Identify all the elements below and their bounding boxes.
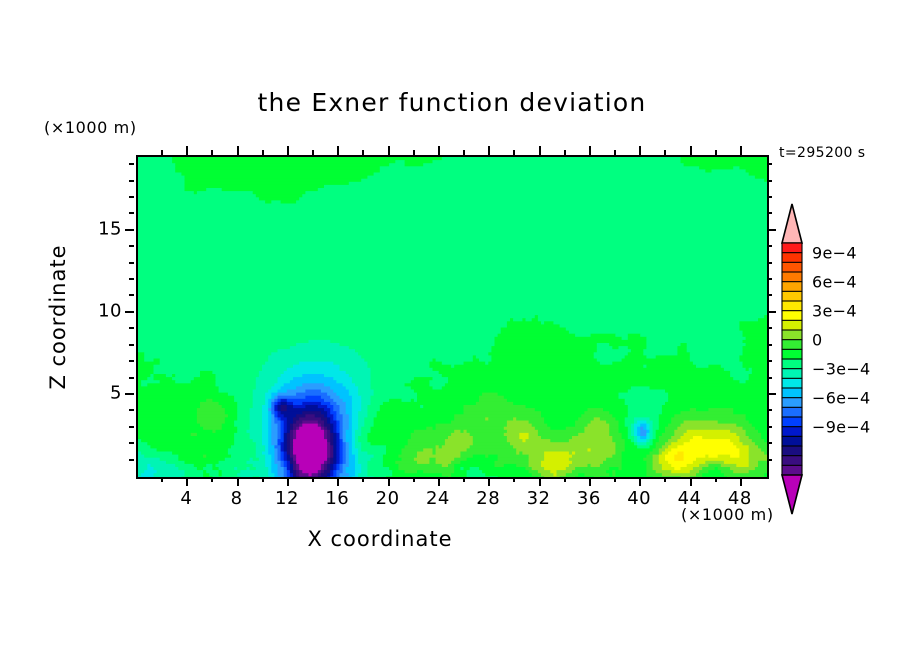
x-tick-label: 48 xyxy=(728,488,752,509)
x-tick xyxy=(337,477,339,486)
colorbar-tick-label: 0 xyxy=(812,330,822,349)
colorbar-band xyxy=(782,253,802,263)
y-tick xyxy=(129,459,134,461)
x-tick-top xyxy=(513,150,515,155)
y-tick-label: 5 xyxy=(76,382,122,403)
x-tick-top xyxy=(639,146,641,155)
y-tick xyxy=(129,212,134,214)
colorbar-band xyxy=(782,465,802,475)
x-tick xyxy=(388,477,390,486)
y-tick-right xyxy=(767,294,772,296)
y-tick-right xyxy=(767,377,772,379)
y-tick xyxy=(129,377,134,379)
colorbar-band xyxy=(782,388,802,398)
colorbar-band xyxy=(782,340,802,350)
x-tick-label: 24 xyxy=(426,488,450,509)
colorbar-band xyxy=(782,243,802,253)
x-tick-label: 44 xyxy=(678,488,702,509)
x-tick xyxy=(262,477,264,482)
chart-title: the Exner function deviation xyxy=(0,88,904,117)
y-tick xyxy=(129,426,134,428)
x-tick xyxy=(287,477,289,486)
y-tick-right xyxy=(767,344,772,346)
colorbar-over-arrow xyxy=(782,204,802,243)
x-tick xyxy=(589,477,591,486)
x-tick-label: 16 xyxy=(325,488,349,509)
x-tick-top xyxy=(715,150,717,155)
x-tick-top xyxy=(312,150,314,155)
colorbar-band xyxy=(782,301,802,311)
x-tick xyxy=(639,477,641,486)
x-tick-top xyxy=(161,150,163,155)
y-tick-right xyxy=(767,409,772,411)
x-tick-top xyxy=(690,146,692,155)
x-tick xyxy=(161,477,163,482)
x-tick xyxy=(186,477,188,486)
x-tick xyxy=(463,477,465,482)
x-tick xyxy=(690,477,692,486)
y-tick-right xyxy=(767,327,772,329)
x-tick-top xyxy=(388,146,390,155)
colorbar-tick-label: 9e−4 xyxy=(812,243,857,262)
y-tick xyxy=(129,180,134,182)
x-tick-top xyxy=(488,146,490,155)
y-tick xyxy=(129,262,134,264)
y-tick xyxy=(129,294,134,296)
x-tick xyxy=(362,477,364,482)
x-tick xyxy=(237,477,239,486)
x-tick-top xyxy=(740,146,742,155)
colorbar-band xyxy=(782,436,802,446)
x-tick-label: 4 xyxy=(180,488,192,509)
x-tick xyxy=(488,477,490,486)
x-tick xyxy=(715,477,717,482)
x-tick-label: 12 xyxy=(275,488,299,509)
x-tick-label: 28 xyxy=(476,488,500,509)
y-tick-right xyxy=(767,245,772,247)
x-tick-top xyxy=(362,150,364,155)
colorbar-band xyxy=(782,291,802,301)
x-tick-top xyxy=(211,150,213,155)
x-tick-top xyxy=(237,146,239,155)
y-tick xyxy=(129,442,134,444)
colorbar-tick-label: −9e−4 xyxy=(812,417,871,436)
x-tick xyxy=(513,477,515,482)
x-tick xyxy=(539,477,541,486)
y-tick-label: 10 xyxy=(76,300,122,321)
colorbar-under-arrow xyxy=(782,475,802,514)
y-tick-right xyxy=(767,163,772,165)
y-tick xyxy=(125,229,134,231)
x-tick-top xyxy=(287,146,289,155)
x-tick xyxy=(438,477,440,486)
y-tick xyxy=(129,278,134,280)
y-tick xyxy=(129,163,134,165)
colorbar-band xyxy=(782,330,802,340)
colorbar-band xyxy=(782,398,802,408)
z-axis-title: Z coordinate xyxy=(46,217,70,417)
colorbar-band xyxy=(782,407,802,417)
colorbar-band xyxy=(782,262,802,272)
y-tick xyxy=(129,344,134,346)
x-tick-top xyxy=(614,150,616,155)
x-tick xyxy=(664,477,666,482)
colorbar-tick-label: −6e−4 xyxy=(812,388,871,407)
x-tick-top xyxy=(463,150,465,155)
x-tick xyxy=(413,477,415,482)
colorbar-band xyxy=(782,417,802,427)
y-tick-right xyxy=(767,311,776,313)
figure-root: the Exner function deviation (×1000 m) (… xyxy=(0,0,904,654)
x-tick-top xyxy=(262,150,264,155)
colorbar-band xyxy=(782,272,802,282)
y-tick xyxy=(129,360,134,362)
x-tick-label: 32 xyxy=(527,488,551,509)
y-tick-right xyxy=(767,360,772,362)
x-tick xyxy=(740,477,742,486)
colorbar-band xyxy=(782,378,802,388)
colorbar-band xyxy=(782,311,802,321)
colorbar-band xyxy=(782,359,802,369)
x-tick-top xyxy=(186,146,188,155)
y-tick-label: 15 xyxy=(76,218,122,239)
y-tick-right xyxy=(767,459,772,461)
y-tick-right xyxy=(767,212,772,214)
colorbar-tick-label: 3e−4 xyxy=(812,301,857,320)
x-tick xyxy=(211,477,213,482)
colorbar-band xyxy=(782,369,802,379)
x-tick-top xyxy=(337,146,339,155)
contour-field xyxy=(138,157,767,477)
timestamp-label: t=295200 s xyxy=(779,145,865,161)
y-tick xyxy=(129,196,134,198)
y-tick-right xyxy=(767,442,772,444)
x-tick-label: 20 xyxy=(376,488,400,509)
x-tick-top xyxy=(413,150,415,155)
colorbar xyxy=(780,203,804,515)
colorbar-tick-label: −3e−4 xyxy=(812,359,871,378)
y-tick xyxy=(129,245,134,247)
x-tick-top xyxy=(664,150,666,155)
x-tick-label: 40 xyxy=(627,488,651,509)
colorbar-band xyxy=(782,320,802,330)
colorbar-band xyxy=(782,446,802,456)
colorbar-band xyxy=(782,456,802,466)
x-tick-top xyxy=(589,146,591,155)
x-tick-label: 8 xyxy=(231,488,243,509)
y-tick-right xyxy=(767,278,772,280)
colorbar-band xyxy=(782,282,802,292)
x-tick xyxy=(564,477,566,482)
colorbar-gradient xyxy=(780,203,804,515)
y-tick xyxy=(125,393,134,395)
y-tick-right xyxy=(767,180,772,182)
x-axis-title: X coordinate xyxy=(0,527,760,551)
y-tick-right xyxy=(767,393,776,395)
y-tick-right xyxy=(767,426,772,428)
x-tick-top xyxy=(539,146,541,155)
z-axis-unit-label: (×1000 m) xyxy=(44,118,137,137)
x-tick-top xyxy=(438,146,440,155)
colorbar-tick-label: 6e−4 xyxy=(812,272,857,291)
x-tick-label: 36 xyxy=(577,488,601,509)
x-tick xyxy=(312,477,314,482)
colorbar-band xyxy=(782,427,802,437)
y-tick xyxy=(129,409,134,411)
y-tick-right xyxy=(767,262,772,264)
contour-plot-area xyxy=(136,155,769,479)
x-tick-top xyxy=(564,150,566,155)
y-tick-right xyxy=(767,196,772,198)
y-tick xyxy=(125,311,134,313)
y-tick-right xyxy=(767,229,776,231)
x-tick xyxy=(614,477,616,482)
colorbar-band xyxy=(782,349,802,359)
y-tick xyxy=(129,327,134,329)
